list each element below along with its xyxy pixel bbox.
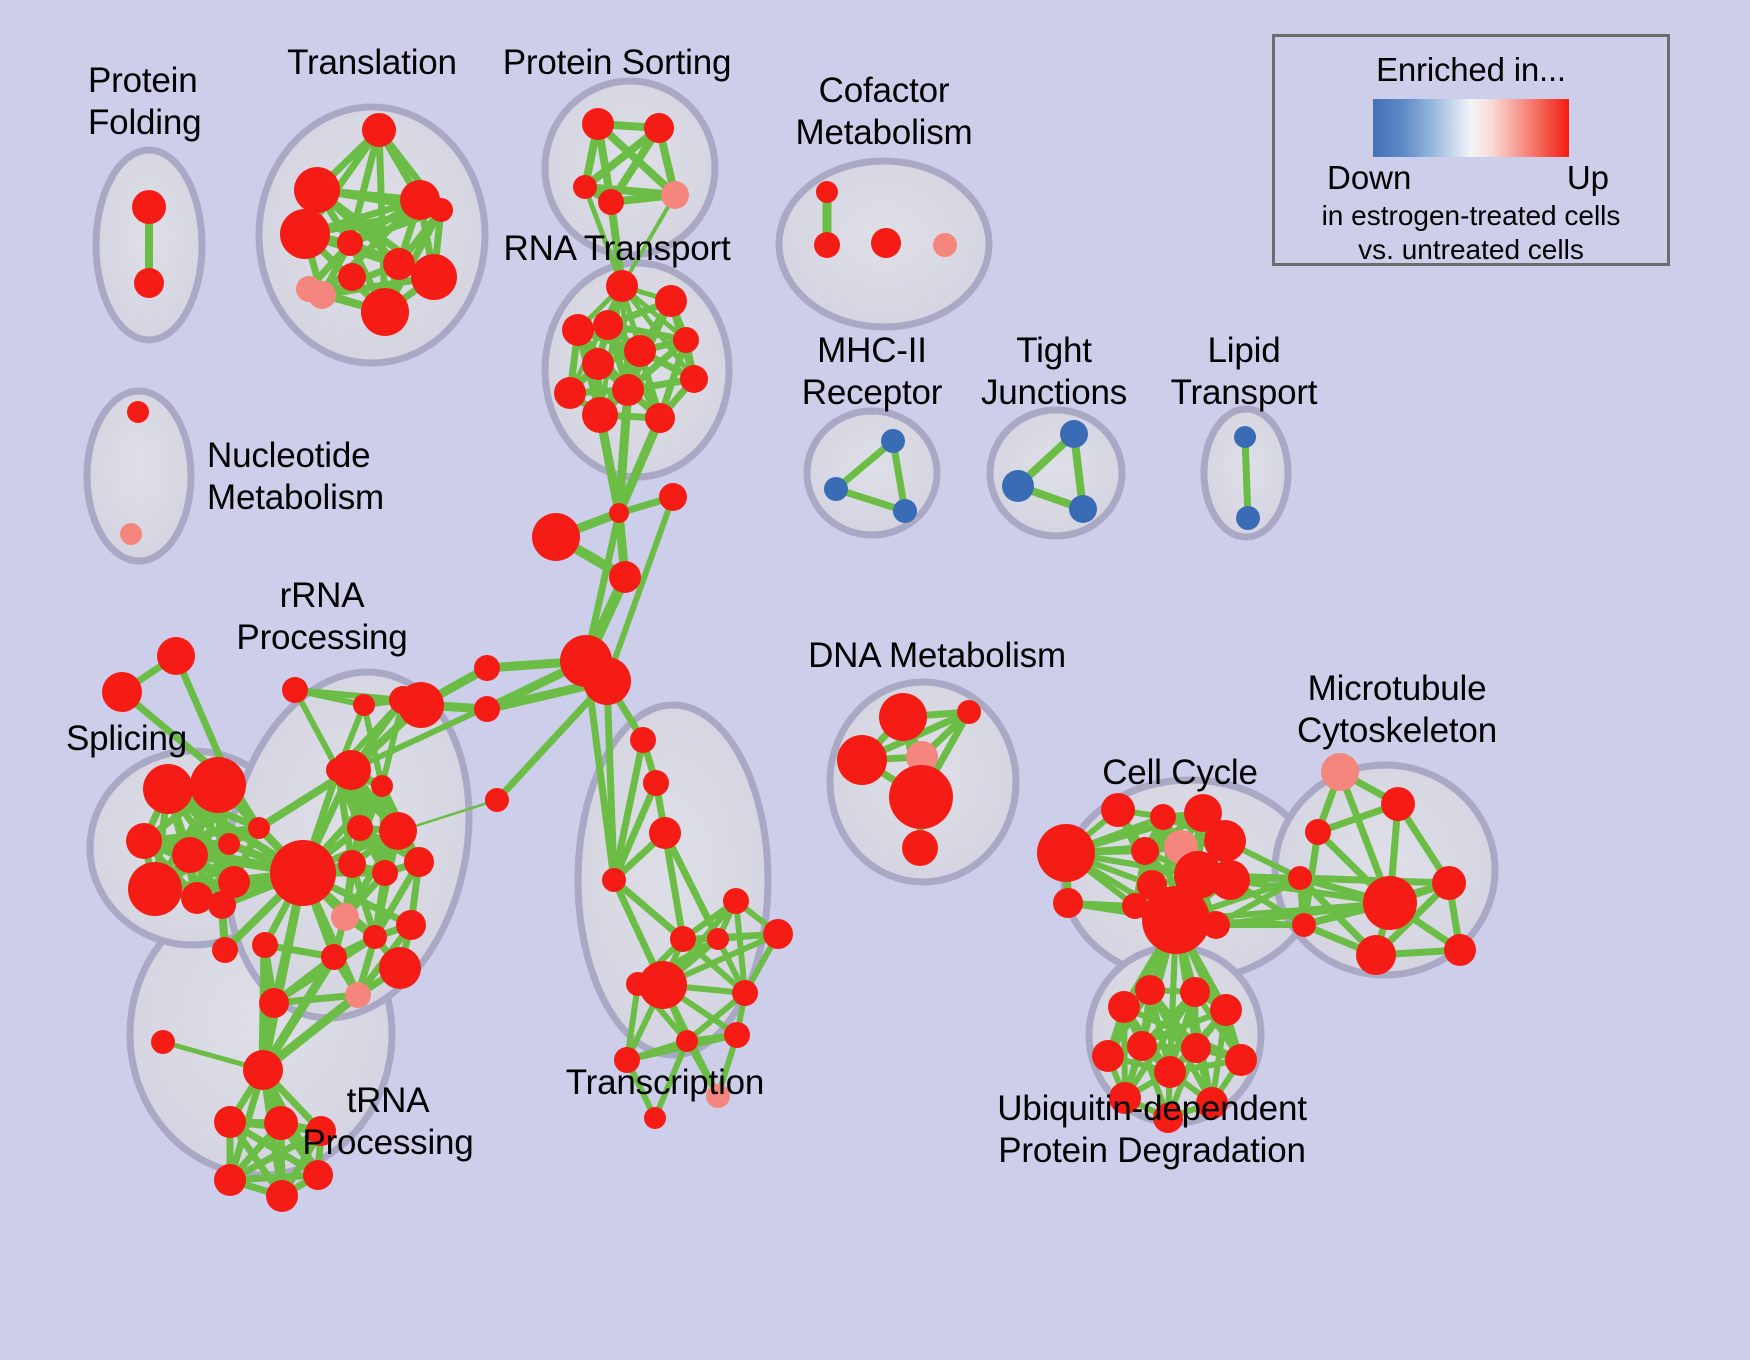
cluster-label-splicing: Splicing xyxy=(66,718,187,760)
cluster-label-cofactor-metabolism: Cofactor Metabolism xyxy=(796,70,973,154)
cluster-label-protein-folding: Protein Folding xyxy=(88,60,201,144)
cluster-label-translation: Translation xyxy=(287,42,457,84)
cluster-label-dna-metabolism: DNA Metabolism xyxy=(808,635,1066,677)
legend-low-label: Down xyxy=(1327,159,1411,197)
legend-color-ramp xyxy=(1373,99,1569,157)
legend-caption-line-2: vs. untreated cells xyxy=(1275,233,1667,267)
cluster-label-lipid-transport: Lipid Transport xyxy=(1171,330,1318,414)
legend-title: Enriched in... xyxy=(1275,51,1667,89)
cluster-label-rna-transport: RNA Transport xyxy=(504,228,731,270)
cluster-label-transcription: Transcription xyxy=(566,1062,764,1104)
cluster-label-ubiquitin-protein-degradation: Ubiquitin-dependent Protein Degradation xyxy=(997,1088,1307,1172)
cluster-label-microtubule-cytoskeleton: Microtubule Cytoskeleton xyxy=(1297,668,1497,752)
cluster-label-mhc-ii-receptor: MHC-II Receptor xyxy=(802,330,942,414)
legend-high-label: Up xyxy=(1567,159,1609,197)
cluster-label-trna-processing: tRNA Processing xyxy=(302,1080,473,1164)
cluster-label-tight-junctions: Tight Junctions xyxy=(981,330,1127,414)
network-figure: Protein Folding Translation Protein Sort… xyxy=(0,0,1750,1360)
hull-mhc-ii-receptor xyxy=(807,411,937,535)
color-legend: Enriched in... Down Up in estrogen-treat… xyxy=(1272,34,1670,266)
legend-caption-line-1: in estrogen-treated cells xyxy=(1275,199,1667,233)
cluster-label-cell-cycle: Cell Cycle xyxy=(1102,752,1258,794)
cluster-label-protein-sorting: Protein Sorting xyxy=(503,42,732,84)
cluster-label-rrna-processing: rRNA Processing xyxy=(236,575,407,659)
cluster-label-nucleotide-metabolism: Nucleotide Metabolism xyxy=(207,435,384,519)
